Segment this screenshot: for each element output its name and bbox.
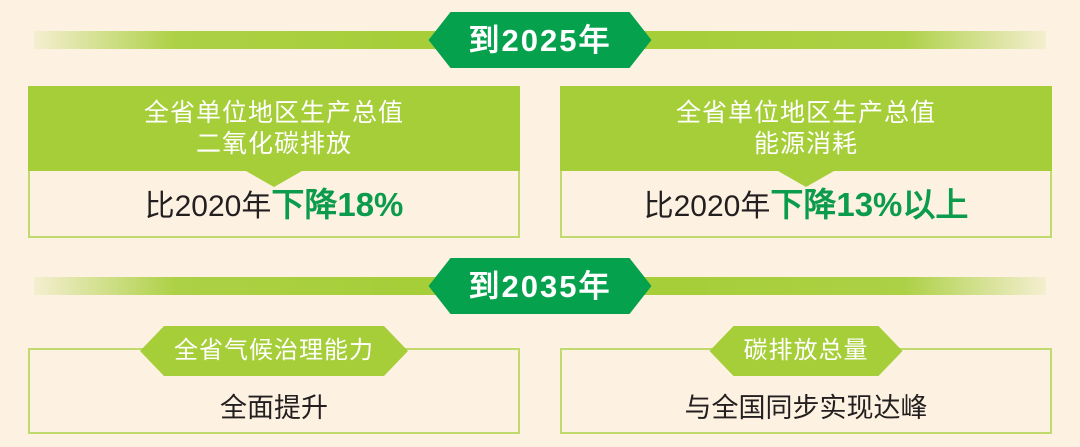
card-co2-intensity-heading-line1: 全省单位地区生产总值	[144, 98, 404, 129]
banner-label-2025: 到2025年	[469, 25, 612, 56]
card-co2-intensity-stat-prefix: 比2020年	[145, 190, 272, 223]
card-co2-intensity-stat-emphasis: 下降18%	[271, 186, 403, 223]
card-energy-consumption-heading-line1: 全省单位地区生产总值	[676, 98, 936, 129]
section-banner-2025: 到2025年	[0, 12, 1080, 68]
card-energy-consumption: 全省单位地区生产总值 能源消耗 比2020年下降13%以上	[560, 86, 1052, 238]
card-energy-consumption-stat-prefix: 比2020年	[644, 190, 771, 223]
card-energy-consumption-heading-line2: 能源消耗	[754, 129, 858, 160]
card-energy-consumption-stat-emphasis: 下降13%以上	[770, 186, 968, 223]
card-co2-intensity-header: 全省单位地区生产总值 二氧化碳排放	[28, 86, 520, 171]
card-co2-intensity-stat: 比2020年下降18%	[145, 188, 404, 222]
cards-row-2035: 全省气候治理能力 全面提升 碳排放总量 与全国同步实现达峰	[28, 326, 1052, 434]
card-co2-intensity: 全省单位地区生产总值 二氧化碳排放 比2020年下降18%	[28, 86, 520, 238]
card-total-carbon-emissions-body: 与全国同步实现达峰	[560, 382, 1052, 434]
banner-plate: 到2035年	[429, 258, 652, 314]
card-co2-intensity-heading-line2: 二氧化碳排放	[196, 129, 352, 160]
card-energy-consumption-header: 全省单位地区生产总值 能源消耗	[560, 86, 1052, 171]
card-climate-governance-body: 全面提升	[28, 382, 520, 434]
card-total-carbon-emissions-tag: 碳排放总量	[710, 326, 903, 376]
infographic-root: 到2025年 全省单位地区生产总值 二氧化碳排放 比2020年下降18% 全省单…	[0, 0, 1080, 447]
card-total-carbon-emissions-tag-label: 碳排放总量	[744, 339, 869, 363]
banner-label-2035: 到2035年	[469, 271, 612, 302]
section-banner-2035: 到2035年	[0, 258, 1080, 314]
card-climate-governance-tag-label: 全省气候治理能力	[174, 339, 374, 363]
card-total-carbon-emissions-statement: 与全国同步实现达峰	[685, 395, 928, 422]
card-total-carbon-emissions: 碳排放总量 与全国同步实现达峰	[560, 326, 1052, 434]
card-energy-consumption-stat: 比2020年下降13%以上	[644, 188, 969, 222]
cards-row-2025: 全省单位地区生产总值 二氧化碳排放 比2020年下降18% 全省单位地区生产总值…	[28, 86, 1052, 238]
card-climate-governance-tag: 全省气候治理能力	[140, 326, 408, 376]
card-climate-governance: 全省气候治理能力 全面提升	[28, 326, 520, 434]
card-climate-governance-statement: 全面提升	[220, 395, 328, 422]
banner-plate: 到2025年	[429, 12, 652, 68]
